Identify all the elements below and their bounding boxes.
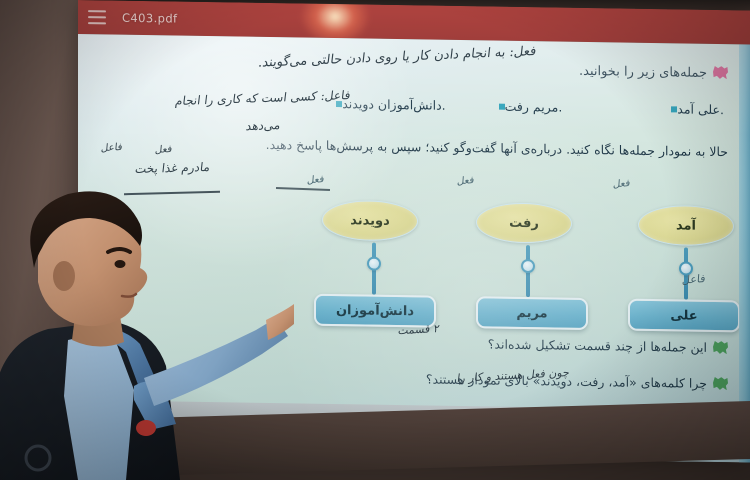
sentence-text: علی آمد. [677,101,724,117]
subject-box: مریم [476,296,588,330]
green-flower-icon [713,377,728,390]
projector-light-bloom [300,0,370,41]
question-item: این جمله‌ها از چند قسمت تشکیل شده‌اند؟ [488,336,728,355]
student-arm-sleeve [144,318,288,406]
student-logo-patch [136,420,156,436]
verb-oval: دویدند [322,200,418,242]
subject-box: علی [628,299,740,333]
verb-oval: آمد [638,205,734,247]
diagram-connector [372,243,376,295]
question-item: چرا کلمه‌های «آمد، رفت، دویدند» بالای نم… [426,371,728,391]
diagram-connector [526,245,530,297]
student-ear [53,261,75,291]
student-eye [115,260,126,268]
connector-node-icon [679,261,693,275]
instruction-look: حالا به نمودار جمله‌ها نگاه کنید. درباره… [266,137,728,159]
instruction-read-text: جمله‌های زیر را بخوانید. [579,64,707,81]
diagram-connector [684,248,688,300]
sentence-text: دانش‌آموزان دویدند. [342,96,445,113]
question-text: چرا کلمه‌های «آمد، رفت، دویدند» بالای نم… [426,371,707,390]
list-item: دانش‌آموزان دویدند. [331,96,445,113]
sentence-text: مریم رفت. [505,99,563,115]
sentence-list: علی آمد. مریم رفت. دانش‌آموزان دویدند. [331,96,724,117]
pink-flower-icon [713,66,728,79]
question-text: این جمله‌ها از چند قسمت تشکیل شده‌اند؟ [488,336,707,354]
list-item: مریم رفت. [494,99,563,115]
document-title: C403.pdf [122,11,177,26]
green-flower-icon [713,341,728,354]
instruction-read: جمله‌های زیر را بخوانید. [579,64,728,81]
screenshot-root: C403.pdf جمله‌های زیر را بخوانید. علی آم… [0,0,750,480]
hamburger-menu-icon[interactable] [88,10,106,24]
connector-node-icon [521,259,535,273]
list-item: علی آمد. [666,101,724,117]
verb-oval: رفت [476,202,572,244]
connector-node-icon [367,257,381,271]
page-right-edge [739,44,750,462]
student-pointing-at-board [0,190,294,480]
subject-box: دانش‌آموزان [314,294,436,328]
